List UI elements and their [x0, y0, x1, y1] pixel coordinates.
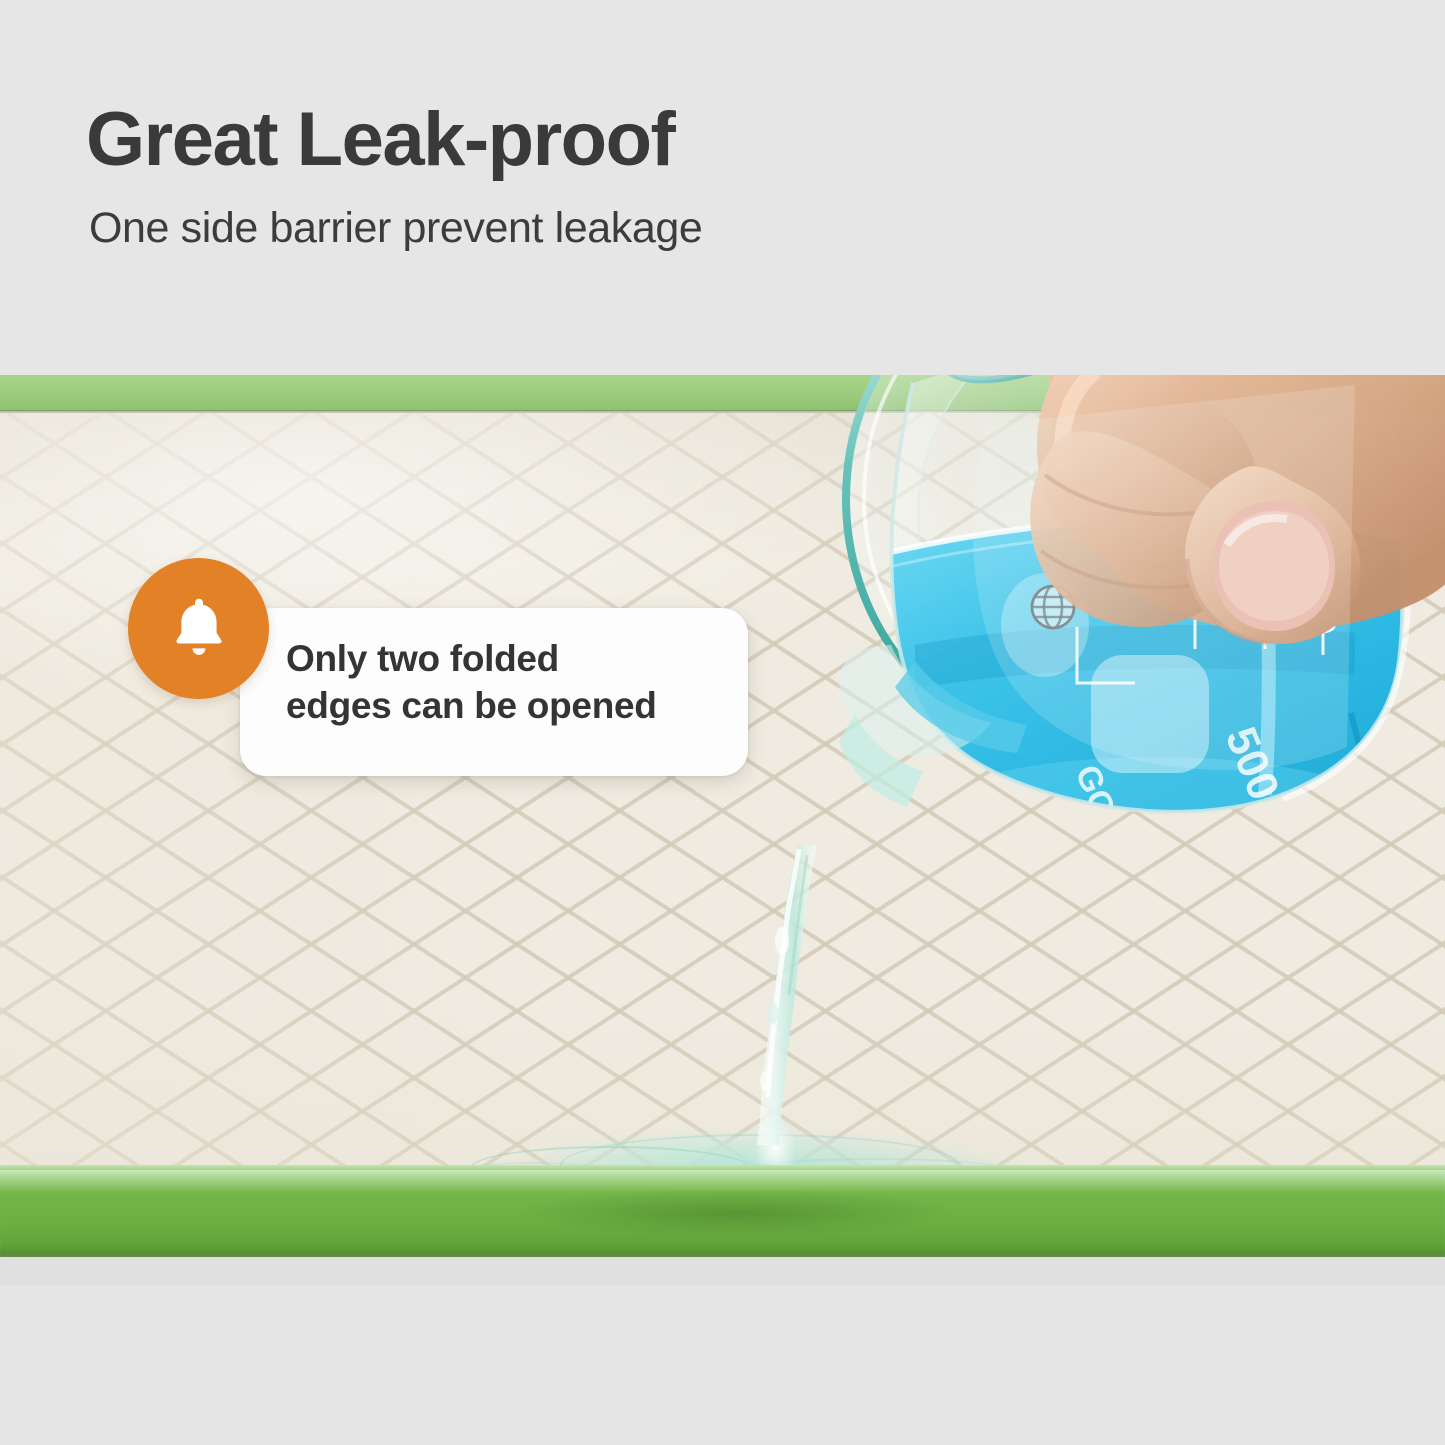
callout-line-1: Only two folded [286, 636, 736, 683]
product-photo-scene: 500ml GG-17 500 APPROX 300 200 100 [0, 375, 1445, 1285]
scene-floor-background [0, 1257, 1445, 1285]
page-subtitle: One side barrier prevent leakage [89, 204, 702, 253]
header-banner: Great Leak-proof One side barrier preven… [0, 0, 1445, 375]
page-title: Great Leak-proof [86, 96, 674, 183]
barrier-wet-patch [426, 1181, 1046, 1245]
glass-beaker-with-hand: 500ml GG-17 500 APPROX 300 200 100 [795, 375, 1445, 875]
liquid-stream [735, 845, 855, 1145]
feature-callout: Only two folded edges can be opened [128, 558, 748, 778]
bell-icon [162, 592, 236, 666]
mat-barrier-front-edge [0, 1165, 1445, 1257]
callout-line-2: edges can be opened [286, 683, 736, 730]
bell-badge [128, 558, 269, 699]
callout-text: Only two folded edges can be opened [286, 636, 736, 729]
